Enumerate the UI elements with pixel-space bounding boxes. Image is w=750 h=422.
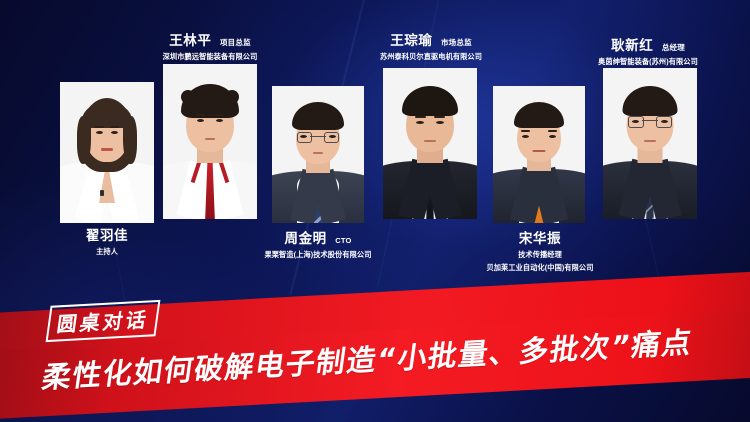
panel-banner-stage: 翟羽佳 主持人 王林平 项目总监 深圳市鹏远智能装备有限公司 [0,0,750,422]
banner-kicker: 圆桌对话 [46,300,161,342]
banner-text-layer: 圆桌对话 柔性化如何破解电子制造“小批量、多批次”痛点 [0,0,750,422]
